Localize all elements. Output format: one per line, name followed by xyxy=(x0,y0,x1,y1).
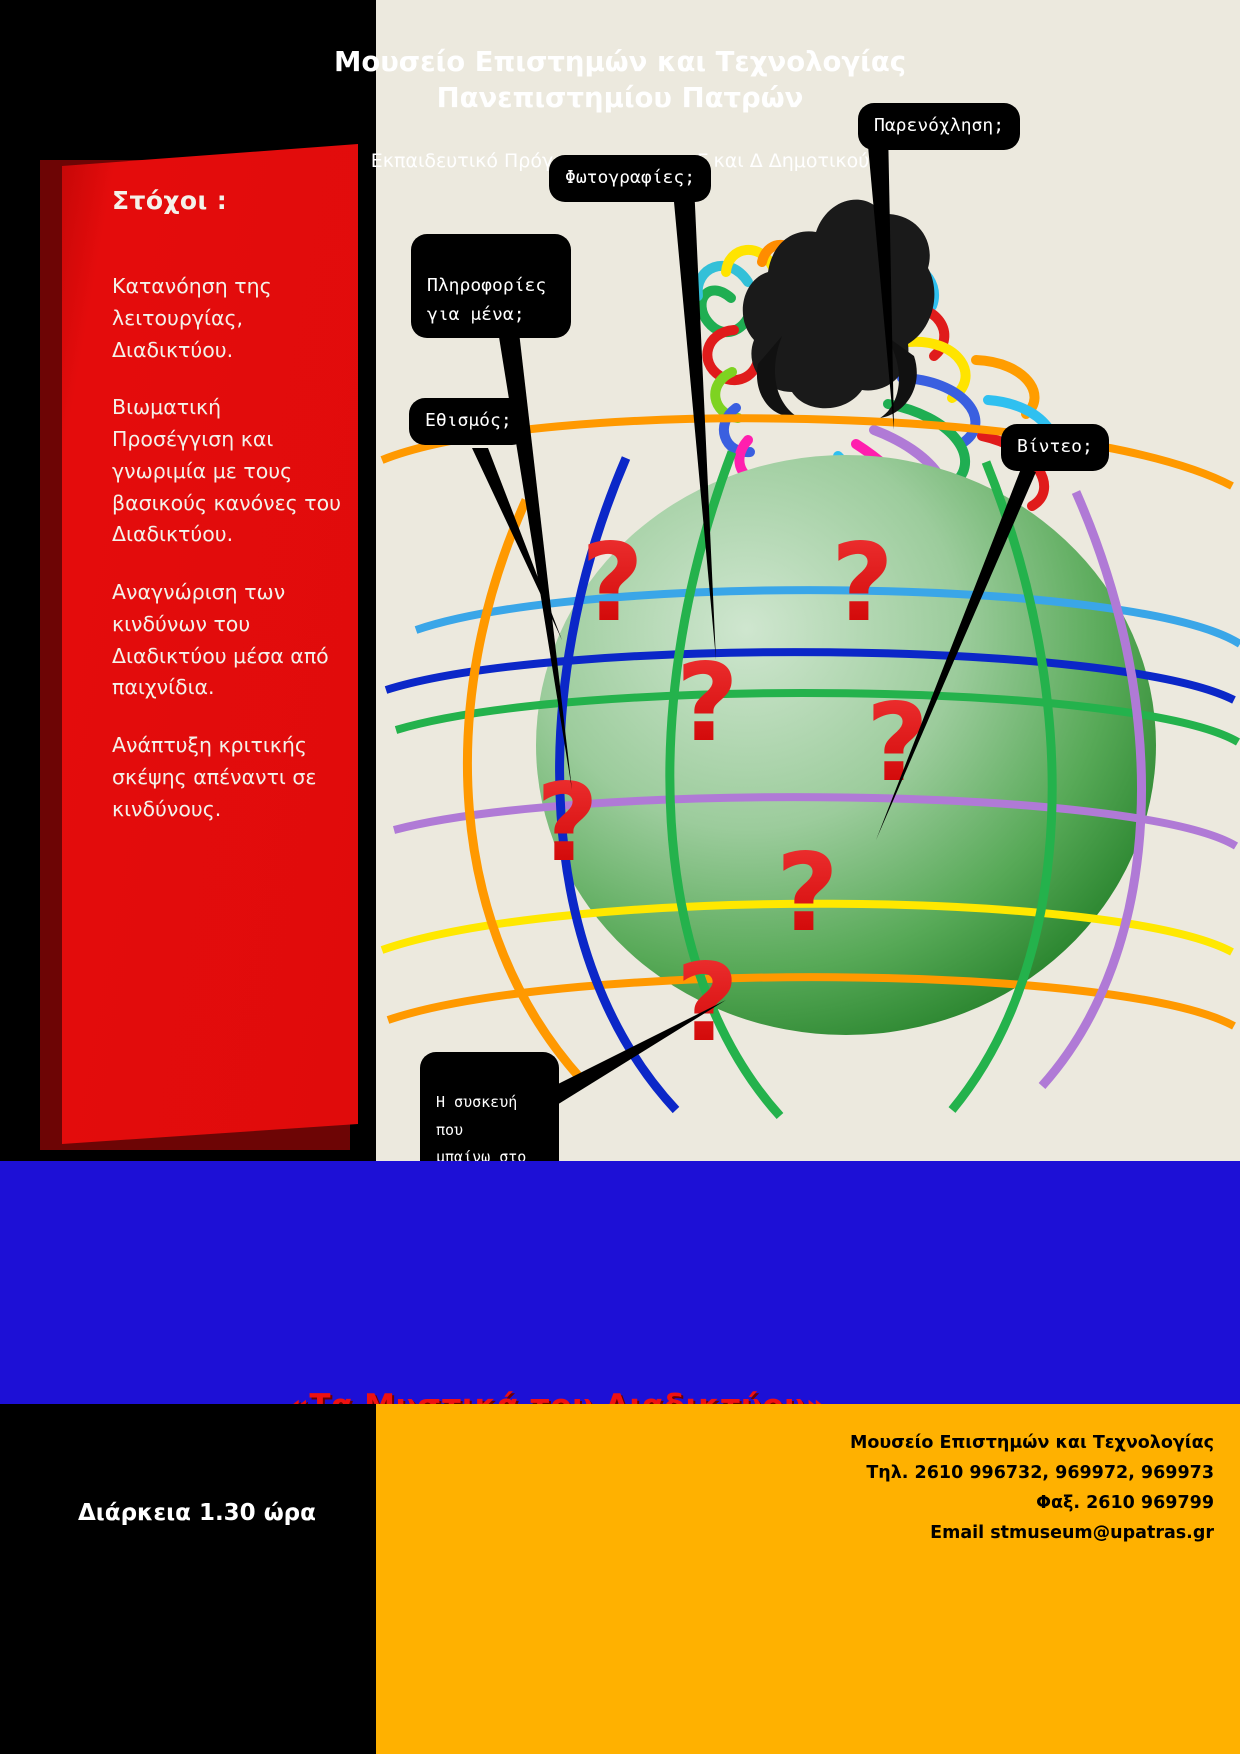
bubble-photos[interactable]: Φωτογραφίες; xyxy=(549,155,711,202)
question-mark: ? xyxy=(676,641,739,766)
bubble-harassment[interactable]: Παρενόχληση; xyxy=(858,103,1020,150)
question-mark: ? xyxy=(581,521,644,646)
objective-item: Ανάπτυξη κριτικής σκέψης απέναντι σε κιν… xyxy=(112,730,342,825)
objectives-content: Στόχοι : Κατανόηση της λειτουργίας, Διαδ… xyxy=(112,186,342,851)
bubble-addiction[interactable]: Εθισμός; xyxy=(409,398,528,445)
bubble-video[interactable]: Βίντεο; xyxy=(1001,424,1109,471)
bubble-text: Πληροφορίες για μένα; xyxy=(427,275,546,325)
bubble-text: Φωτογραφίες; xyxy=(565,167,695,188)
bubble-device[interactable]: Η συσκευή που μπαίνω στο Διαδίκτυο; xyxy=(420,1052,559,1161)
bubble-text: Παρενόχληση; xyxy=(874,115,1004,136)
organization-band xyxy=(0,1161,1240,1404)
objective-item: Κατανόηση της λειτουργίας, Διαδικτύου. xyxy=(112,271,342,366)
contact-line-2: Τηλ. 2610 996732, 969972, 969973 xyxy=(376,1458,1214,1488)
question-mark: ? xyxy=(536,761,599,886)
question-mark: ? xyxy=(776,831,839,956)
poster-root: ? ? ? ? ? ? ? Παρενόχληση; Φωτ xyxy=(0,0,1240,1754)
question-mark: ? xyxy=(831,521,894,646)
bubble-text: Εθισμός; xyxy=(425,410,512,431)
organization-name: Μουσείο Επιστημών και Τεχνολογίας Πανεπι… xyxy=(0,44,1240,117)
artwork-panel: ? ? ? ? ? ? ? Παρενόχληση; Φωτ xyxy=(376,0,1240,1161)
organization-line-1: Μουσείο Επιστημών και Τεχνολογίας xyxy=(0,44,1240,80)
organization-line-2: Πανεπιστημίου Πατρών xyxy=(0,80,1240,116)
duration-label: Διάρκεια 1.30 ώρα xyxy=(78,1500,368,1526)
contact-details: Μουσείο Επιστημών και Τεχνολογίας Τηλ. 2… xyxy=(376,1428,1214,1548)
objective-item: Αναγνώριση των κινδύνων του Διαδικτύου μ… xyxy=(112,577,342,704)
globe-illustration: ? ? ? ? ? ? ? xyxy=(376,0,1240,1161)
objectives-heading: Στόχοι : xyxy=(112,186,342,215)
bubble-text: Βίντεο; xyxy=(1017,436,1093,457)
objective-item: Βιωματική Προσέγγιση και γνωριμία με του… xyxy=(112,392,342,551)
bubble-info-about-me[interactable]: Πληροφορίες για μένα; xyxy=(411,234,571,338)
bubble-text: Η συσκευή που μπαίνω στο Διαδίκτυο; xyxy=(436,1093,526,1161)
contact-line-3: Φαξ. 2610 969799 xyxy=(376,1488,1214,1518)
contact-line-4: Email stmuseum@upatras.gr xyxy=(376,1518,1214,1548)
question-mark: ? xyxy=(676,941,739,1066)
contact-line-1: Μουσείο Επιστημών και Τεχνολογίας xyxy=(376,1428,1214,1458)
